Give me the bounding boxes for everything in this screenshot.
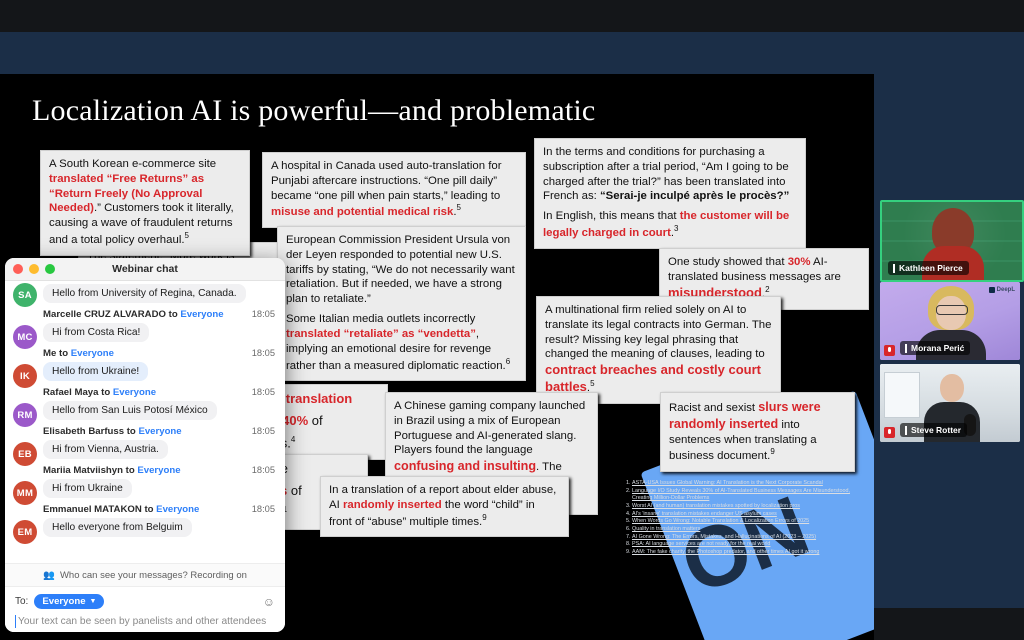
chat-recipient-value: Everyone [42, 596, 85, 607]
reference-item[interactable]: When Words Go Wrong: Notable Translation… [632, 518, 870, 526]
close-icon[interactable] [13, 264, 23, 274]
window-controls[interactable] [13, 264, 55, 274]
room-window [884, 372, 920, 418]
callout-korea-lead: A South Korean e-commerce site [49, 158, 216, 170]
callout-eu-lead: Some Italian media outlets incorrectly [286, 313, 475, 325]
reference-link[interactable]: Quality in translation matters [632, 526, 700, 532]
reference-link[interactable]: Worst AI (and human) translation mistake… [632, 503, 800, 509]
webinar-chat-window[interactable]: Webinar chat SAHello from University of … [5, 258, 285, 632]
callout-elder-abuse: In a translation of a report about elder… [320, 476, 569, 537]
callout-elder-highlight: randomly inserted [343, 499, 442, 511]
callout-study-percent: 30% [788, 256, 811, 268]
chat-message-meta: Me to Everyone18:05 [43, 348, 275, 359]
chat-message[interactable]: IKMe to Everyone18:05Hello from Ukraine! [5, 348, 285, 381]
chat-window-title: Webinar chat [112, 263, 178, 275]
reference-item[interactable]: ASTA-USA Issues Global Warning: AI Trans… [632, 480, 870, 488]
callout-multinational-highlight: contract breaches and costly court battl… [545, 362, 761, 394]
people-icon: 👥 [43, 570, 55, 581]
deepl-label: DeepL [997, 287, 1015, 293]
reference-link[interactable]: AI's 'insane' translation mistakes endan… [632, 511, 777, 517]
avatar: IK [13, 364, 37, 388]
chat-message-time: 18:05 [246, 348, 275, 358]
callout-china-lead: A Chinese gaming company launched in Bra… [394, 400, 585, 456]
callout-terms-lead2: In English, this means that [543, 210, 680, 222]
chat-recipient-dropdown[interactable]: Everyone ▼ [34, 594, 104, 609]
chat-message[interactable]: EBElisabeth Barfuss to Everyone18:05Hi f… [5, 426, 285, 459]
mic-muted-icon [884, 345, 895, 356]
chat-message-recipient: Everyone [137, 465, 180, 476]
participant-name-badge: Steve Rotter [900, 423, 967, 437]
chat-message-sender: Mariia Matviishyn to Everyone [43, 465, 181, 476]
callout-multinational-lead: A multinational firm relied solely on AI… [545, 304, 771, 360]
chat-to-label: To: [15, 596, 28, 607]
chat-message-time: 18:05 [246, 309, 275, 319]
minimize-icon[interactable] [29, 264, 39, 274]
callout-multinational-footnote: 5 [590, 379, 594, 388]
chat-recipient-row[interactable]: To: Everyone ▼ ☺ [15, 594, 275, 609]
avatar: SA [13, 283, 37, 307]
participant-name-badge: Morana Perić [900, 341, 970, 355]
chat-message-recipient: Everyone [180, 309, 223, 320]
chat-message-time: 18:05 [246, 387, 275, 397]
reference-list: ASTA-USA Issues Global Warning: AI Trans… [610, 480, 870, 557]
callout-study-footnote: 2 [765, 285, 769, 294]
mic-indicator-icon [905, 426, 907, 435]
reference-item[interactable]: Worst AI (and human) translation mistake… [632, 503, 870, 511]
speaker-glasses-icon [936, 305, 968, 315]
chat-message[interactable]: MMMariia Matviishyn to Everyone18:05Hi f… [5, 465, 285, 498]
chevron-down-icon: ▼ [90, 598, 97, 605]
callout-multinational-contracts: A multinational firm relied solely on AI… [536, 296, 781, 404]
chat-message-meta: Mariia Matviishyn to Everyone18:05 [43, 465, 275, 476]
callout-eu-highlight: translated “retaliate” as “vendetta” [286, 328, 476, 340]
chat-message-meta: Rafael Maya to Everyone18:05 [43, 387, 275, 398]
avatar: MM [13, 481, 37, 505]
deepl-logo-icon [989, 287, 995, 293]
reference-item[interactable]: Quality in translation matters [632, 526, 870, 534]
chat-message-recipient: Everyone [138, 426, 181, 437]
deepl-watermark: DeepL [989, 287, 1015, 293]
chat-message-time: 18:05 [246, 426, 275, 436]
callout-terms-footnote: 3 [674, 224, 678, 233]
avatar: RM [13, 403, 37, 427]
mic-indicator-icon [905, 344, 907, 353]
participant-name: Kathleen Pierce [899, 263, 963, 273]
mic-indicator-icon [893, 264, 895, 273]
callout-machine-mid: of [308, 413, 322, 428]
participant-tile-steve-rotter[interactable]: Steve Rotter [880, 364, 1020, 442]
chat-message-sender: Emmanuel MATAKON to Everyone [43, 504, 199, 515]
reference-item[interactable]: AI Gone Wrong: The Errors, Mistakes, and… [632, 534, 870, 542]
chat-message-recipient: Everyone [113, 387, 156, 398]
chat-message[interactable]: RMRafael Maya to Everyone18:05Hello from… [5, 387, 285, 420]
chat-message-list[interactable]: SAHello from University of Regina, Canad… [5, 281, 285, 563]
callout-canada-hospital: A hospital in Canada used auto-translati… [262, 152, 526, 228]
callout-elder-footnote: 9 [482, 513, 486, 522]
chat-message-meta: Emmanuel MATAKON to Everyone18:05 [43, 504, 275, 515]
callout-eu-footnote: 6 [506, 357, 510, 366]
avatar: EM [13, 520, 37, 544]
reference-item[interactable]: Language I/O Study Reveals 30% of AI-Tra… [632, 488, 870, 503]
chat-message-sender: Marcelle CRUZ ALVARADO to Everyone [43, 309, 224, 320]
callout-european-commission: European Commission President Ursula von… [277, 226, 526, 381]
chat-title-bar[interactable]: Webinar chat [5, 258, 285, 281]
window-top-band [0, 0, 1024, 32]
reference-link[interactable]: PSA: AI language services are not ready … [632, 541, 770, 547]
participant-tile-morana-peric[interactable]: DeepL Morana Perić [880, 282, 1020, 360]
participant-tile-kathleen-pierce[interactable]: Kathleen Pierce [880, 200, 1024, 282]
chat-notice-text: Who can see your messages? Recording on [60, 570, 247, 581]
meeting-background-band [0, 32, 1024, 74]
callout-eu-quote: European Commission President Ursula von… [286, 234, 515, 305]
callout-south-korea: A South Korean e-commerce site translate… [40, 150, 250, 256]
chat-input-placeholder: Your text can be seen by panelists and o… [18, 616, 266, 627]
chat-message-bubble: Hello from University of Regina, Canada. [43, 284, 246, 303]
participant-name: Morana Perić [911, 343, 964, 353]
reference-link[interactable]: AAM: The fake charity, the Photoshop pre… [632, 549, 819, 555]
emoji-picker-icon[interactable]: ☺ [263, 595, 275, 609]
participant-name: Steve Rotter [911, 425, 961, 435]
avatar: EB [13, 442, 37, 466]
chat-message-time: 18:05 [246, 504, 275, 514]
chat-message-bubble: Hi from Vienna, Austria. [43, 440, 168, 459]
callout-canada-highlight: misuse and potential medical risk [271, 206, 453, 218]
screen: Localization AI is powerful—and problema… [0, 0, 1024, 640]
reference-item[interactable]: AI's 'insane' translation mistakes endan… [632, 511, 870, 519]
participant-name-badge: Kathleen Pierce [888, 261, 969, 275]
chat-message-bubble: Hi from Costa Rica! [43, 323, 149, 342]
chat-message-input[interactable]: Your text can be seen by panelists and o… [15, 616, 275, 627]
chat-privacy-notice[interactable]: 👥 Who can see your messages? Recording o… [5, 563, 285, 586]
callout-racist-lead: Racist and sexist [669, 402, 758, 414]
chat-message-sender: Elisabeth Barfuss to Everyone [43, 426, 182, 437]
maximize-icon[interactable] [45, 264, 55, 274]
callout-china-highlight: confusing and insulting [394, 459, 536, 473]
callout-words-mid: of [287, 483, 301, 498]
chat-message-meta: Elisabeth Barfuss to Everyone18:05 [43, 426, 275, 437]
chat-message-bubble: Hello from Ukraine! [43, 362, 148, 381]
chat-message-sender: Rafael Maya to Everyone [43, 387, 156, 398]
chat-message[interactable]: EMEmmanuel MATAKON to Everyone18:05Hello… [5, 504, 285, 537]
reference-item[interactable]: PSA: AI language services are not ready … [632, 541, 870, 549]
callout-study-lead: One study showed that [668, 256, 788, 268]
chat-compose-area[interactable]: To: Everyone ▼ ☺ Your text can be seen b… [5, 586, 285, 632]
reference-link[interactable]: When Words Go Wrong: Notable Translation… [632, 518, 809, 524]
callout-racist-footnote: 9 [770, 447, 774, 456]
chat-message-meta: Marcelle CRUZ ALVARADO to Everyone18:05 [43, 309, 275, 320]
chat-message-recipient: Everyone [71, 348, 114, 359]
mic-muted-icon [884, 427, 895, 438]
chat-message-recipient: Everyone [156, 504, 199, 515]
chat-message[interactable]: SAHello from University of Regina, Canad… [5, 283, 285, 303]
reference-item[interactable]: AAM: The fake charity, the Photoshop pre… [632, 549, 870, 557]
callout-canada-footnote: 5 [456, 203, 460, 212]
chat-message-bubble: Hello from San Luis Potosí México [43, 401, 217, 420]
chat-message-bubble: Hello everyone from Belguim [43, 518, 192, 537]
text-caret [15, 615, 16, 628]
chat-message[interactable]: MCMarcelle CRUZ ALVARADO to Everyone18:0… [5, 309, 285, 342]
callout-racist-slurs: Racist and sexist slurs were randomly in… [660, 392, 855, 472]
avatar: MC [13, 325, 37, 349]
chat-message-time: 18:05 [246, 465, 275, 475]
reference-link[interactable]: Language I/O Study Reveals 30% of AI-Tra… [632, 488, 850, 502]
reference-link[interactable]: ASTA-USA Issues Global Warning: AI Trans… [632, 480, 823, 486]
callout-machine-footnote: 4 [291, 435, 295, 444]
callout-terms-conditions: In the terms and conditions for purchasi… [534, 138, 806, 249]
chat-message-sender: Me to Everyone [43, 348, 114, 359]
callout-korea-footnote: 5 [185, 231, 189, 240]
page-title: Localization AI is powerful—and problema… [32, 94, 595, 128]
speaker-silhouette [940, 374, 964, 402]
callout-canada-lead: A hospital in Canada used auto-translati… [271, 160, 502, 202]
chat-message-bubble: Hi from Ukraine [43, 479, 132, 498]
reference-link[interactable]: AI Gone Wrong: The Errors, Mistakes, and… [632, 534, 816, 540]
callout-terms-french: “Serai-je inculpé après le procès?” [600, 190, 789, 202]
